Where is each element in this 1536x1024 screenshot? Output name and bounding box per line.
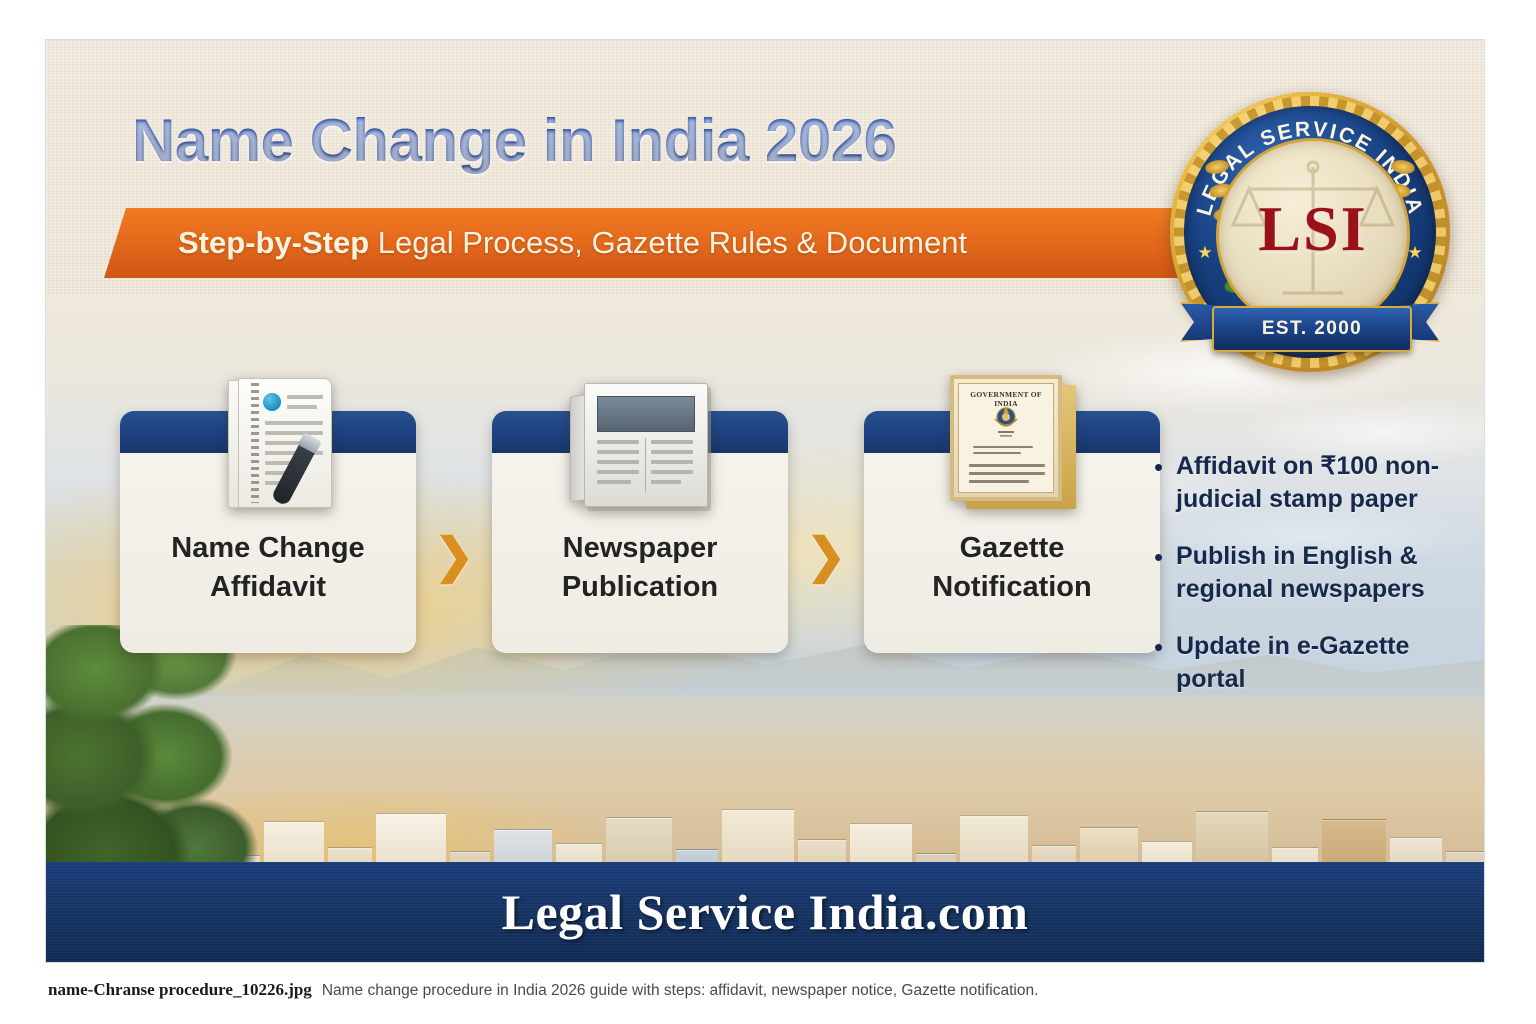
step-label-line2: Affidavit	[210, 571, 326, 603]
list-item: • Affidavit on ₹100 non-judicial stamp p…	[1154, 450, 1484, 516]
step-label-line1: Gazette	[960, 532, 1065, 564]
chevron-right-icon-2: ❯	[806, 531, 846, 583]
subtitle-banner-text: Step-by-Step Legal Process, Gazette Rule…	[178, 225, 967, 261]
bullet-dot-icon: •	[1154, 450, 1176, 516]
list-item: • Publish in English & regional newspape…	[1154, 540, 1484, 606]
subtitle-bold-prefix: Step-by-Step	[178, 225, 369, 260]
bullet-dot-icon: •	[1154, 540, 1176, 606]
bullet-dot-icon: •	[1154, 630, 1176, 696]
step-label-affidavit: Name Change Affidavit	[171, 529, 364, 607]
image-caption: name-Chranse procedure_10226.jpgName cha…	[48, 980, 1038, 1000]
step-label-line1: Newspaper	[563, 532, 718, 564]
caption-filename: name-Chranse procedure_10226.jpg	[48, 980, 312, 999]
caption-description: Name change procedure in India 2026 guid…	[322, 982, 1039, 999]
seal-monogram: LSI	[1219, 197, 1407, 261]
infographic-image: Name Change in India 2026 Step-by-Step L…	[46, 40, 1484, 962]
newspaper-icon	[570, 383, 710, 513]
brand-footer-bar: Legal Service India.com	[46, 862, 1484, 962]
bullet-text: Affidavit on ₹100 non-judicial stamp pap…	[1176, 450, 1484, 516]
page-root: Name Change in India 2026 Step-by-Step L…	[0, 0, 1536, 1024]
seal-ribbon: EST. 2000	[1180, 300, 1440, 356]
page-title: Name Change in India 2026	[132, 108, 896, 174]
step-label-line2: Notification	[932, 571, 1092, 603]
bullet-text: Publish in English & regional newspapers	[1176, 540, 1484, 606]
gazette-certificate-icon: GOVERNMENT OF INDIA	[950, 375, 1078, 515]
list-item: • Update in e-Gazette portal	[1154, 630, 1484, 696]
step-label-line2: Publication	[562, 571, 718, 603]
ribbon-text: EST. 2000	[1262, 318, 1362, 340]
ribbon-body: EST. 2000	[1212, 306, 1412, 352]
brand-name: Legal Service India.com	[502, 883, 1029, 941]
step-label-gazette: Gazette Notification	[932, 529, 1092, 607]
step-label-newspaper: Newspaper Publication	[562, 529, 718, 607]
lsi-logo-seal: LEGAL SERVICE INDIA ★ ★ L	[1160, 88, 1460, 388]
document-pen-icon	[222, 378, 342, 518]
subtitle-rest: Legal Process, Gazette Rules & Document	[369, 225, 967, 260]
chevron-right-icon-1: ❯	[434, 531, 474, 583]
step-label-line1: Name Change	[171, 532, 364, 564]
subtitle-banner: Step-by-Step Legal Process, Gazette Rule…	[104, 208, 1214, 278]
process-steps: Name Change Affidavit ❯	[120, 373, 1160, 653]
india-emblem-icon	[989, 403, 1023, 443]
seal-star-left-icon: ★	[1196, 244, 1214, 262]
key-points-list: • Affidavit on ₹100 non-judicial stamp p…	[1154, 450, 1484, 720]
bullet-text: Update in e-Gazette portal	[1176, 630, 1484, 696]
